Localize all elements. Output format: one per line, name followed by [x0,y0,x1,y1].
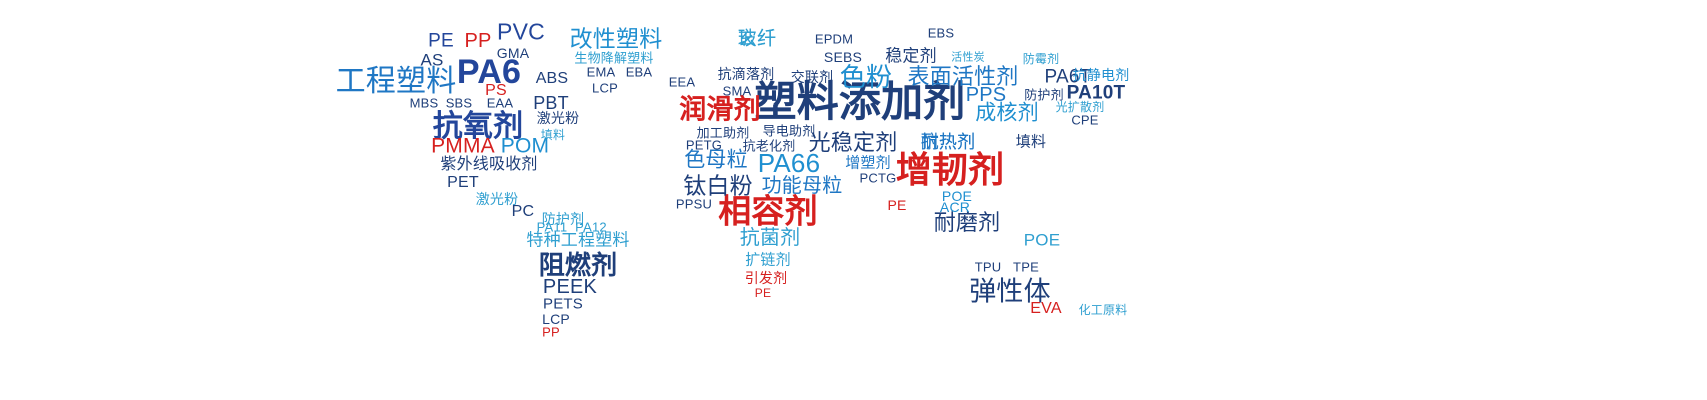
wordcloud-word[interactable]: 扩链剂 [745,253,791,268]
wordcloud-word[interactable]: PA12 [575,221,607,234]
wordcloud-word[interactable]: 工程塑料 [336,67,457,97]
wordcloud-word[interactable]: 激光粉 [537,111,580,125]
wordcloud-word[interactable]: PC [512,204,535,220]
wordcloud-word[interactable]: 引发剂 [745,271,788,285]
wordcloud-word[interactable]: 活性炭 [951,53,985,64]
wordcloud-word[interactable]: EEA [669,76,696,89]
wordcloud-word[interactable]: 填料 [1016,135,1046,150]
wordcloud-word[interactable]: 紫外线吸收剂 [440,157,537,173]
wordcloud-word[interactable]: EBS [928,27,955,40]
wordcloud-word[interactable]: PE [755,287,771,299]
wordcloud-word[interactable]: 抗菌剂 [740,228,801,248]
wordcloud-word[interactable]: PVC [497,21,545,44]
wordcloud-word[interactable]: PE [887,198,906,212]
wordcloud-word[interactable]: LCP [592,82,618,95]
wordcloud-word[interactable]: 生物降解塑料 [574,52,653,65]
wordcloud-word[interactable]: MBS [410,97,439,110]
wordcloud-word[interactable]: 交联剂 [791,70,834,84]
wordcloud-word[interactable]: POE [1024,232,1061,249]
wordcloud-word[interactable]: PET [447,175,479,191]
wordcloud-word[interactable]: PETG [686,139,722,152]
wordcloud-word[interactable]: 抗老化剂 [743,140,796,153]
wordcloud-word[interactable]: PP [542,326,560,339]
wordcloud-word[interactable]: 色粉 [840,64,892,90]
wordcloud-word[interactable]: 化工原料 [1079,304,1128,316]
wordcloud-word[interactable]: SMA [723,85,752,98]
wordcloud-word[interactable]: 耐磨剂 [934,212,1001,234]
wordcloud-word[interactable]: 改性塑料 [570,28,663,51]
wordcloud-word[interactable]: CPE [1071,114,1098,127]
wordcloud-word[interactable]: 稳定剂 [885,48,937,65]
wordcloud-word[interactable]: TPU [975,261,1002,274]
wordcloud-word[interactable]: 玻纤 [738,30,776,49]
wordcloud-word[interactable]: 功能母粒 [762,176,843,196]
wordcloud-word[interactable]: EBA [626,66,653,79]
wordcloud-word[interactable]: 防霉剂 [1023,53,1060,65]
wordcloud-word[interactable]: AS [420,52,443,69]
wordcloud-word[interactable]: TPE [1013,261,1039,274]
wordcloud-word[interactable]: ACR [940,200,970,214]
wordcloud-word[interactable]: GMA [497,46,530,60]
wordcloud-word[interactable]: PE [428,32,454,51]
wordcloud-word[interactable]: PPS [966,85,1007,105]
wordcloud-word[interactable]: 钛白粉 [683,175,753,198]
wordcloud-word[interactable]: PP [464,31,491,51]
wordcloud-word[interactable]: SEBS [824,50,862,64]
wordcloud-word[interactable]: 色母粒 [684,150,748,171]
wordcloud-word[interactable]: 阻燃剂 [539,252,618,278]
wordcloud-word[interactable]: 增塑剂 [845,156,891,171]
wordcloud-word[interactable]: 抗静电剂 [1073,68,1130,82]
wordcloud-word[interactable]: 增韧剂 [896,152,1005,188]
wordcloud-word[interactable]: 导电助剂 [763,125,816,138]
wordcloud-word[interactable]: ABS [536,71,569,87]
wordcloud-word[interactable]: 光扩散剂 [1056,101,1105,113]
wordcloud-word[interactable]: 抗滴落剂 [718,67,775,81]
wordcloud-word[interactable]: 光稳定剂 [809,132,898,154]
wordcloud-word[interactable]: EVA [1030,301,1061,317]
wordcloud-word[interactable]: EMA [587,66,616,79]
wordcloud-word[interactable]: PMMA [431,136,495,157]
wordcloud-word[interactable]: 填料 [541,129,565,141]
wordcloud-word[interactable]: PA11 [537,221,568,234]
wordcloud-word[interactable]: EPDM [815,33,853,46]
wordcloud-word[interactable]: PETS [543,297,583,312]
wordcloud-word[interactable]: 相容剂 [718,195,818,228]
wordcloud-word[interactable]: PCTG [860,172,897,185]
wordcloud-word[interactable]: SBS [446,97,473,110]
wordcloud-word[interactable]: 耐热剂 [921,133,976,151]
wordcloud-word[interactable]: 润滑剂 [679,97,761,124]
wordcloud-canvas: 塑料添加剂增韧剂相容剂工程塑料PA6抗氧剂润滑剂阻燃剂弹性体PA66色粉改性塑料… [0,0,1707,400]
wordcloud-word[interactable]: EAA [487,97,514,110]
wordcloud-word[interactable]: PEEK [543,277,597,297]
wordcloud-word[interactable]: PPSU [676,198,712,211]
